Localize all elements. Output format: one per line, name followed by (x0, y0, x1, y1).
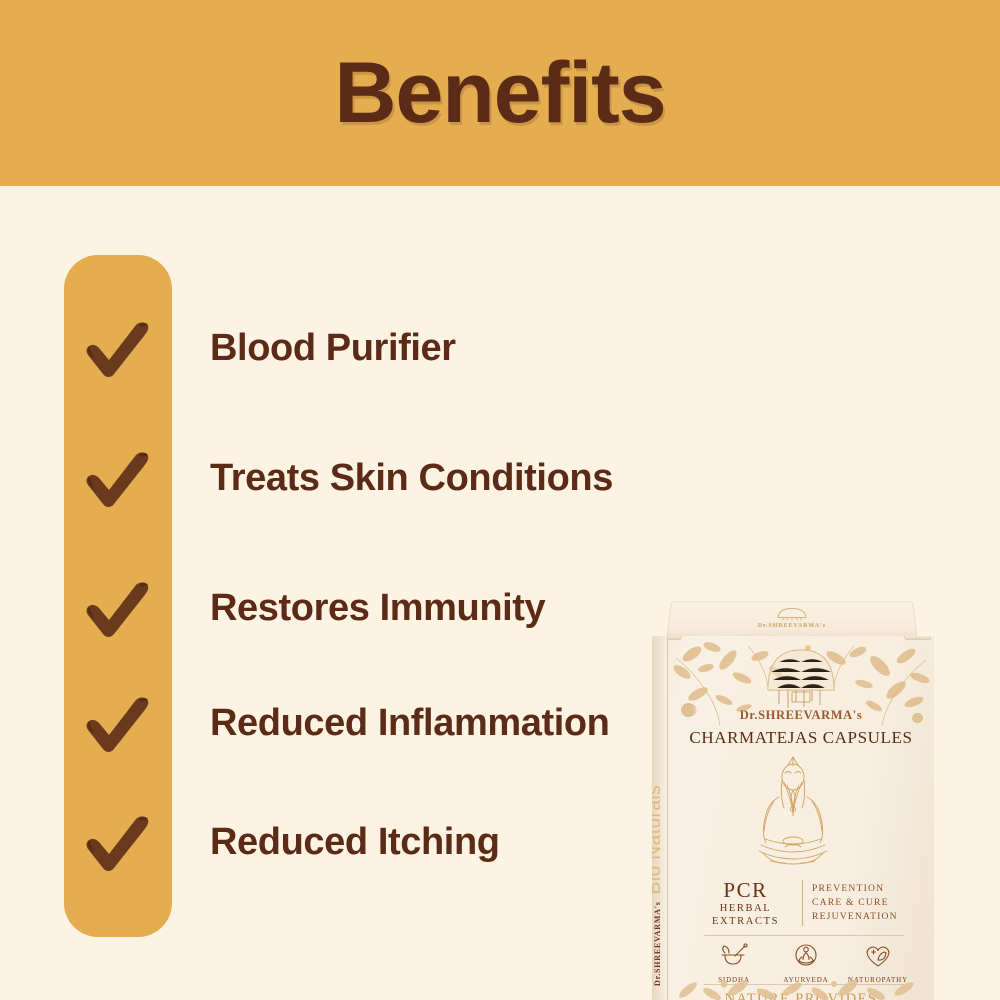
claim-line-1: PREVENTION (812, 882, 898, 896)
heart-leaf-icon (862, 943, 894, 969)
pcr-line-3: EXTRACTS (698, 916, 793, 929)
check-mark-icon (78, 313, 158, 383)
mortar-pestle-icon (719, 943, 749, 969)
sage-figure-icon (741, 749, 845, 878)
lid-brand-label: Dr.SHREEVARMA's (669, 623, 916, 629)
side-brand-label: Dr.SHREEVARMA's (653, 901, 662, 986)
side-range-label: Bio Naturals (652, 785, 666, 895)
box-brand-label: Dr.SHREEVARMA's (668, 708, 934, 723)
benefits-infographic: Benefits Blood Purifier (0, 0, 1000, 1000)
list-item: Reduced Inflammation (0, 683, 700, 763)
list-item: Restores Immunity (0, 568, 700, 648)
pcr-group: PCR HERBAL EXTRACTS (698, 878, 793, 929)
list-item-label: Restores Immunity (210, 587, 545, 630)
floral-pattern-bottom (668, 972, 934, 1000)
box-front-face: Dr.SHREEVARMA's CHARMATEJAS CAPSULES (652, 636, 934, 1000)
pcr-line-2: HERBAL (698, 903, 793, 916)
list-item-label: Treats Skin Conditions (210, 457, 613, 500)
box-product-name: CHARMATEJAS CAPSULES (668, 728, 934, 748)
product-package: Dr.SHREEVARMA's (652, 598, 934, 1000)
vertical-divider (802, 880, 803, 926)
claim-line-2: CARE & CURE (812, 896, 898, 910)
check-mark-icon (78, 443, 158, 513)
list-item: Reduced Itching (0, 802, 700, 882)
divider-above-icons (704, 935, 904, 936)
check-mark-icon (78, 807, 158, 877)
check-mark-icon (78, 688, 158, 758)
side-vertical-text: Dr.SHREEVARMA's Bio Naturals (652, 785, 666, 986)
pcr-title: PCR (698, 878, 793, 903)
list-item-label: Reduced Itching (210, 821, 500, 864)
meditating-figure-icon (791, 943, 821, 969)
check-mark-icon (78, 573, 158, 643)
pcr-claims-block: PCR HERBAL EXTRACTS PREVENTION CARE & CU… (698, 878, 914, 929)
list-item: Treats Skin Conditions (0, 438, 700, 518)
list-item-label: Blood Purifier (210, 327, 456, 370)
claims-group: PREVENTION CARE & CURE REJUVENATION (812, 882, 898, 924)
claim-line-3: REJUVENATION (812, 910, 898, 924)
banyan-tree-icon (669, 606, 915, 625)
list-item-label: Reduced Inflammation (210, 702, 610, 745)
list-item: Blood Purifier (0, 308, 700, 388)
